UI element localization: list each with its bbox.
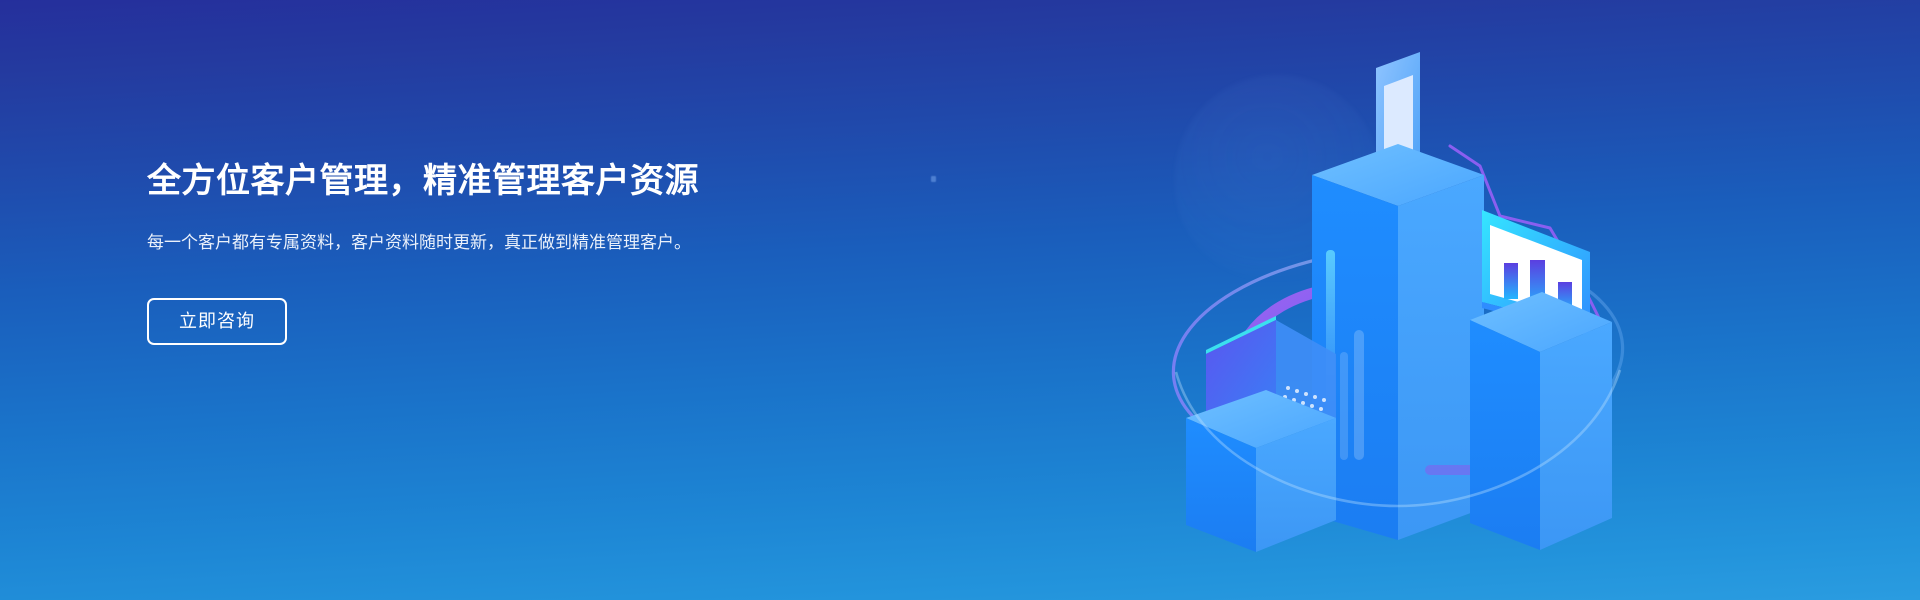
hero-subtitle: 每一个客户都有专属资料，客户资料随时更新，真正做到精准管理客户。 bbox=[147, 229, 747, 257]
hero-illustration bbox=[1130, 20, 1670, 580]
cta-container: 立即咨询 bbox=[147, 298, 787, 345]
consult-now-button[interactable]: 立即咨询 bbox=[147, 298, 287, 345]
hero-banner: 全方位客户管理，精准管理客户资源 每一个客户都有专属资料，客户资料随时更新，真正… bbox=[0, 0, 1920, 600]
left-pedestal bbox=[1186, 316, 1336, 552]
hero-copy: 全方位客户管理，精准管理客户资源 每一个客户都有专属资料，客户资料随时更新，真正… bbox=[147, 160, 787, 345]
right-pedestal bbox=[1470, 210, 1612, 550]
background-particle bbox=[931, 176, 936, 182]
page-title: 全方位客户管理，精准管理客户资源 bbox=[147, 160, 787, 203]
